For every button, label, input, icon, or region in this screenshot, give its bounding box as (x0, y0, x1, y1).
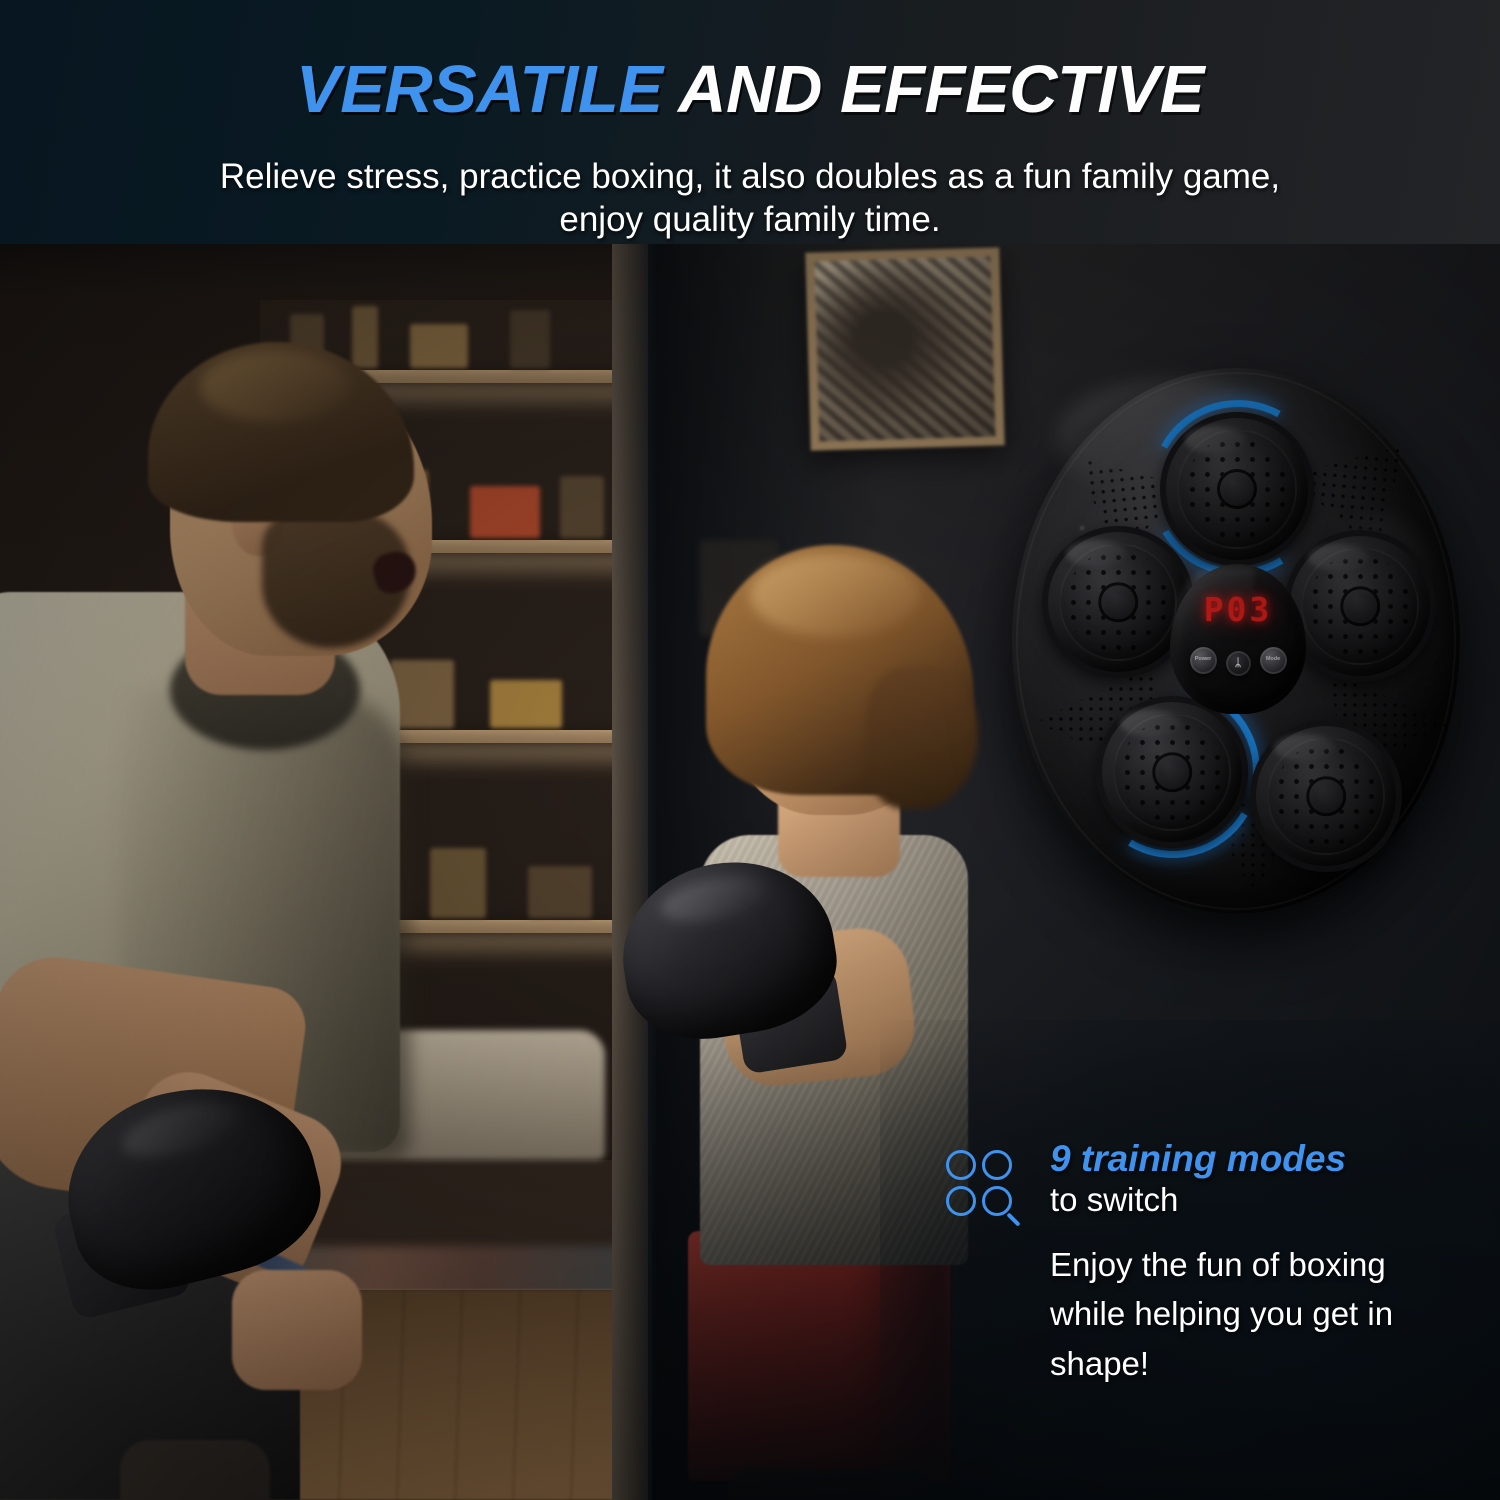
feature-headline: 9 training modes (1050, 1138, 1470, 1179)
subheadline-line-1: Relieve stress, practice boxing, it also… (90, 155, 1410, 198)
subheadline: Relieve stress, practice boxing, it also… (90, 155, 1410, 242)
feature-body: Enjoy the fun of boxing while helping yo… (1050, 1240, 1470, 1389)
page-title: VERSATILE AND EFFECTIVE (0, 56, 1500, 123)
mode-button-label: Mode (1266, 657, 1280, 663)
feature-body-line-1: Enjoy the fun of boxing (1050, 1240, 1470, 1290)
punch-pad-bottom-left[interactable] (1096, 696, 1248, 848)
headline-rest: AND EFFECTIVE (663, 52, 1204, 127)
header-banner: VERSATILE AND EFFECTIVE Relieve stress, … (0, 0, 1500, 244)
power-button-label: Power (1195, 657, 1212, 663)
power-button[interactable]: Power (1190, 647, 1217, 674)
punch-pad-bottom-right[interactable] (1250, 720, 1402, 872)
bluetooth-button[interactable]: ᛦ (1226, 651, 1251, 676)
feature-body-line-3: shape! (1050, 1339, 1470, 1389)
bluetooth-icon: ᛦ (1235, 658, 1242, 669)
feature-body-line-2: while helping you get in (1050, 1289, 1470, 1339)
punch-pad-right[interactable] (1284, 530, 1436, 682)
headline-highlight: VERSATILE (296, 52, 663, 127)
mode-button[interactable]: Mode (1260, 647, 1287, 674)
subheadline-line-2: enjoy quality family time. (90, 198, 1410, 241)
adult-man-boxing (0, 330, 610, 1500)
indicator-led (1080, 526, 1084, 530)
punch-pad-top[interactable] (1160, 412, 1314, 566)
product-marketing-image: P03 Power ᛦ Mode (0, 0, 1500, 1500)
four-circles-switch-icon (946, 1150, 1018, 1222)
led-display: P03 (1170, 590, 1306, 629)
wall-picture-frame (805, 247, 1004, 450)
feature-subline: to switch (1050, 1181, 1470, 1219)
wall-mounted-music-boxing-machine: P03 Power ᛦ Mode (1012, 368, 1460, 914)
